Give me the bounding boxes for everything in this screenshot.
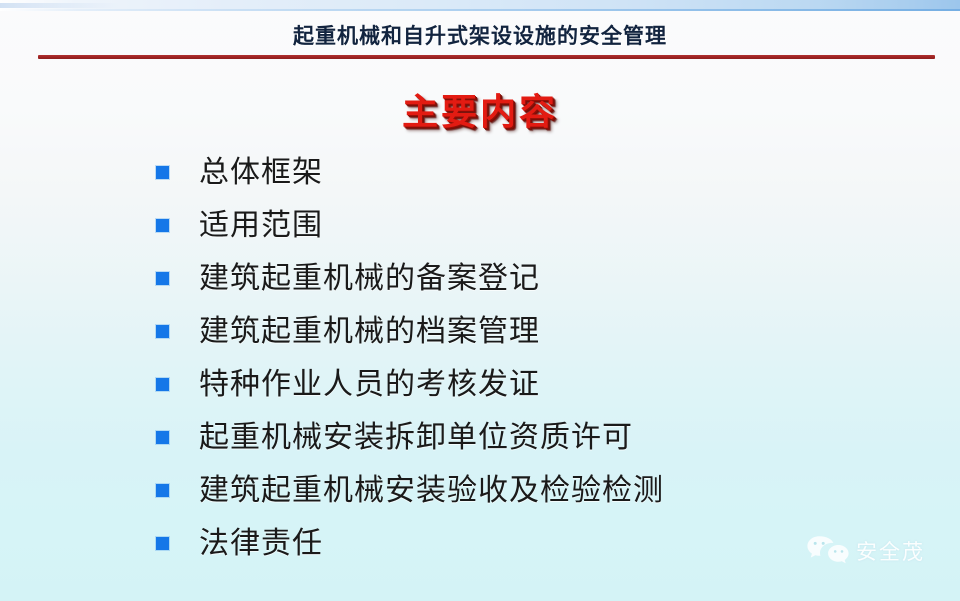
square-bullet-icon [156, 537, 169, 550]
watermark: 安全茂 [806, 534, 925, 568]
square-bullet-icon [156, 431, 169, 444]
square-bullet-icon [156, 378, 169, 391]
section-heading: 主要内容 [0, 83, 960, 135]
list-item-label: 起重机械安装拆卸单位资质许可 [199, 423, 633, 453]
list-item-label: 建筑起重机械的备案登记 [199, 264, 540, 294]
list-item[interactable]: 特种作业人员的考核发证 [156, 358, 916, 411]
list-item-label: 法律责任 [199, 529, 323, 559]
watermark-label: 安全茂 [856, 536, 925, 566]
list-item[interactable]: 建筑起重机械的档案管理 [156, 305, 916, 358]
list-item[interactable]: 法律责任 [156, 517, 916, 570]
square-bullet-icon [156, 166, 169, 179]
top-accent-streak [0, 3, 120, 8]
header-divider-rule [38, 55, 935, 59]
list-item-label: 总体框架 [199, 158, 323, 188]
list-item-label: 建筑起重机械安装验收及检验检测 [199, 476, 664, 506]
contents-bullet-list: 总体框架 适用范围 建筑起重机械的备案登记 建筑起重机械的档案管理 特种作业人员… [156, 146, 916, 570]
square-bullet-icon [156, 219, 169, 232]
presentation-slide: 起重机械和自升式架设设施的安全管理 主要内容 总体框架 适用范围 建筑起重机械的… [0, 0, 960, 601]
list-item[interactable]: 适用范围 [156, 199, 916, 252]
wechat-icon [806, 534, 850, 568]
list-item[interactable]: 建筑起重机械的备案登记 [156, 252, 916, 305]
list-item-label: 特种作业人员的考核发证 [199, 370, 540, 400]
list-item-label: 建筑起重机械的档案管理 [199, 317, 540, 347]
square-bullet-icon [156, 272, 169, 285]
top-accent-band [0, 0, 960, 11]
page-title: 起重机械和自升式架设设施的安全管理 [0, 20, 960, 50]
list-item[interactable]: 建筑起重机械安装验收及检验检测 [156, 464, 916, 517]
square-bullet-icon [156, 325, 169, 338]
list-item[interactable]: 总体框架 [156, 146, 916, 199]
list-item-label: 适用范围 [199, 211, 323, 241]
list-item[interactable]: 起重机械安装拆卸单位资质许可 [156, 411, 916, 464]
square-bullet-icon [156, 484, 169, 497]
